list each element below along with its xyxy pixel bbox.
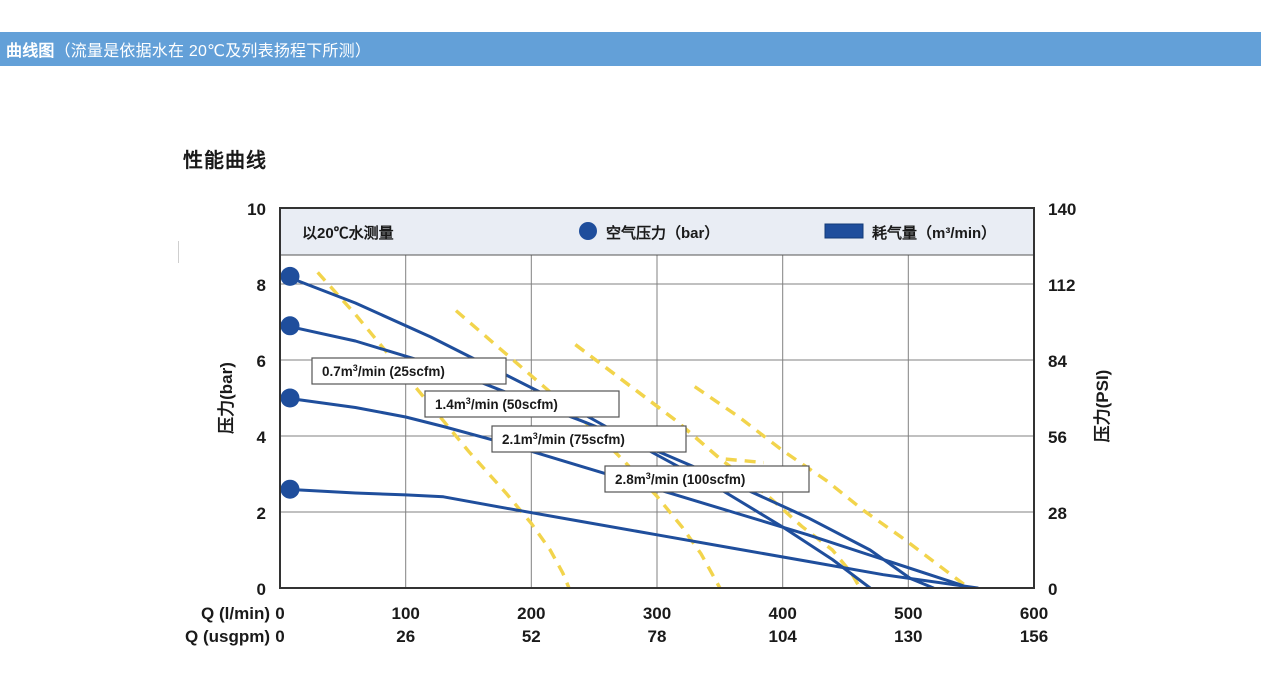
legend-series1-label: 空气压力（bar） xyxy=(606,224,719,242)
callout-imp-2: (75scfm) xyxy=(569,432,625,447)
y-right-tick: 56 xyxy=(1048,428,1067,447)
y-left-tick: 4 xyxy=(257,428,267,447)
y-axis-right: 140 112 84 56 28 0 压力(PSI) xyxy=(1048,200,1112,599)
svg-text:2.1m3/min (75scfm): 2.1m3/min (75scfm) xyxy=(502,431,625,447)
x-tick-lmin: 0 xyxy=(275,604,284,623)
callout-value-0: 0.7 xyxy=(322,364,341,379)
x-tick-usgpm: 130 xyxy=(894,627,922,646)
banner-subtitle: （流量是依据水在 20℃及列表扬程下所测） xyxy=(55,43,371,60)
x-tick-lmin: 300 xyxy=(643,604,671,623)
legend-rect-icon xyxy=(825,224,863,238)
x-axis-title-usgpm: Q (usgpm) xyxy=(185,627,270,646)
x-tick-usgpm: 0 xyxy=(275,627,284,646)
x-axis-row-usgpm: Q (usgpm) 0 26 52 78 104 130 156 xyxy=(185,627,1048,646)
page-banner: 曲线图（流量是依据水在 20℃及列表扬程下所测） xyxy=(0,32,1261,66)
x-tick-usgpm: 26 xyxy=(396,627,415,646)
y-right-tick: 140 xyxy=(1048,200,1076,219)
x-tick-lmin: 400 xyxy=(769,604,797,623)
callout-imp-1: (50scfm) xyxy=(502,397,558,412)
callout-value-2: 2.1 xyxy=(502,432,521,447)
y-axis-right-title: 压力(PSI) xyxy=(1092,370,1112,443)
svg-text:2.8m3/min (100scfm): 2.8m3/min (100scfm) xyxy=(615,471,745,487)
marker-point xyxy=(281,389,300,408)
marker-point xyxy=(281,316,300,335)
x-tick-lmin: 200 xyxy=(517,604,545,623)
chart-container: 性能曲线 以20℃水测量 xyxy=(0,66,1261,700)
x-axis-row-lmin: Q (l/min) 0 100 200 300 400 500 600 xyxy=(201,604,1048,623)
performance-curve-svg: 以20℃水测量 空气压力（bar） 耗气量（m³/min） xyxy=(0,66,1261,700)
legend-circle-icon xyxy=(579,222,597,240)
x-axis-title-lmin: Q (l/min) xyxy=(201,604,270,623)
svg-text:0.7m3/min (25scfm): 0.7m3/min (25scfm) xyxy=(322,363,445,379)
x-tick-usgpm: 156 xyxy=(1020,627,1048,646)
callout-imp-3: (100scfm) xyxy=(682,472,745,487)
y-left-tick: 6 xyxy=(257,352,266,371)
y-left-tick: 0 xyxy=(257,580,266,599)
y-axis-left: 10 8 6 4 2 0 压力(bar) xyxy=(216,200,267,599)
callout-2-8: 2.8m3/min (100scfm) xyxy=(605,466,809,492)
y-left-tick: 2 xyxy=(257,504,266,523)
y-axis-left-title: 压力(bar) xyxy=(216,362,236,434)
y-right-tick: 28 xyxy=(1048,504,1067,523)
x-tick-usgpm: 78 xyxy=(648,627,667,646)
callout-value-3: 2.8 xyxy=(615,472,634,487)
callout-0-7: 0.7m3/min (25scfm) xyxy=(312,358,506,384)
legend-series2-label: 耗气量（m³/min） xyxy=(872,224,996,242)
y-left-tick: 8 xyxy=(257,276,266,295)
callout-1-4: 1.4m3/min (50scfm) xyxy=(425,391,619,417)
marker-point xyxy=(281,480,300,499)
y-right-tick: 84 xyxy=(1048,352,1067,371)
x-tick-lmin: 600 xyxy=(1020,604,1048,623)
y-right-tick: 112 xyxy=(1048,276,1075,295)
svg-text:1.4m3/min (50scfm): 1.4m3/min (50scfm) xyxy=(435,396,558,412)
banner-text: 曲线图（流量是依据水在 20℃及列表扬程下所测） xyxy=(0,37,371,61)
legend-note: 以20℃水测量 xyxy=(302,224,394,242)
x-tick-lmin: 100 xyxy=(392,604,420,623)
callout-value-1: 1.4 xyxy=(435,397,454,412)
callout-2-1: 2.1m3/min (75scfm) xyxy=(492,426,686,452)
banner-title: 曲线图 xyxy=(6,43,55,60)
x-tick-lmin: 500 xyxy=(894,604,922,623)
y-left-tick: 10 xyxy=(247,200,266,219)
x-tick-usgpm: 52 xyxy=(522,627,541,646)
marker-point xyxy=(281,267,300,286)
y-right-tick: 0 xyxy=(1048,580,1057,599)
x-tick-usgpm: 104 xyxy=(769,627,798,646)
legend-box: 以20℃水测量 空气压力（bar） 耗气量（m³/min） xyxy=(280,208,1034,255)
callout-imp-0: (25scfm) xyxy=(389,364,445,379)
